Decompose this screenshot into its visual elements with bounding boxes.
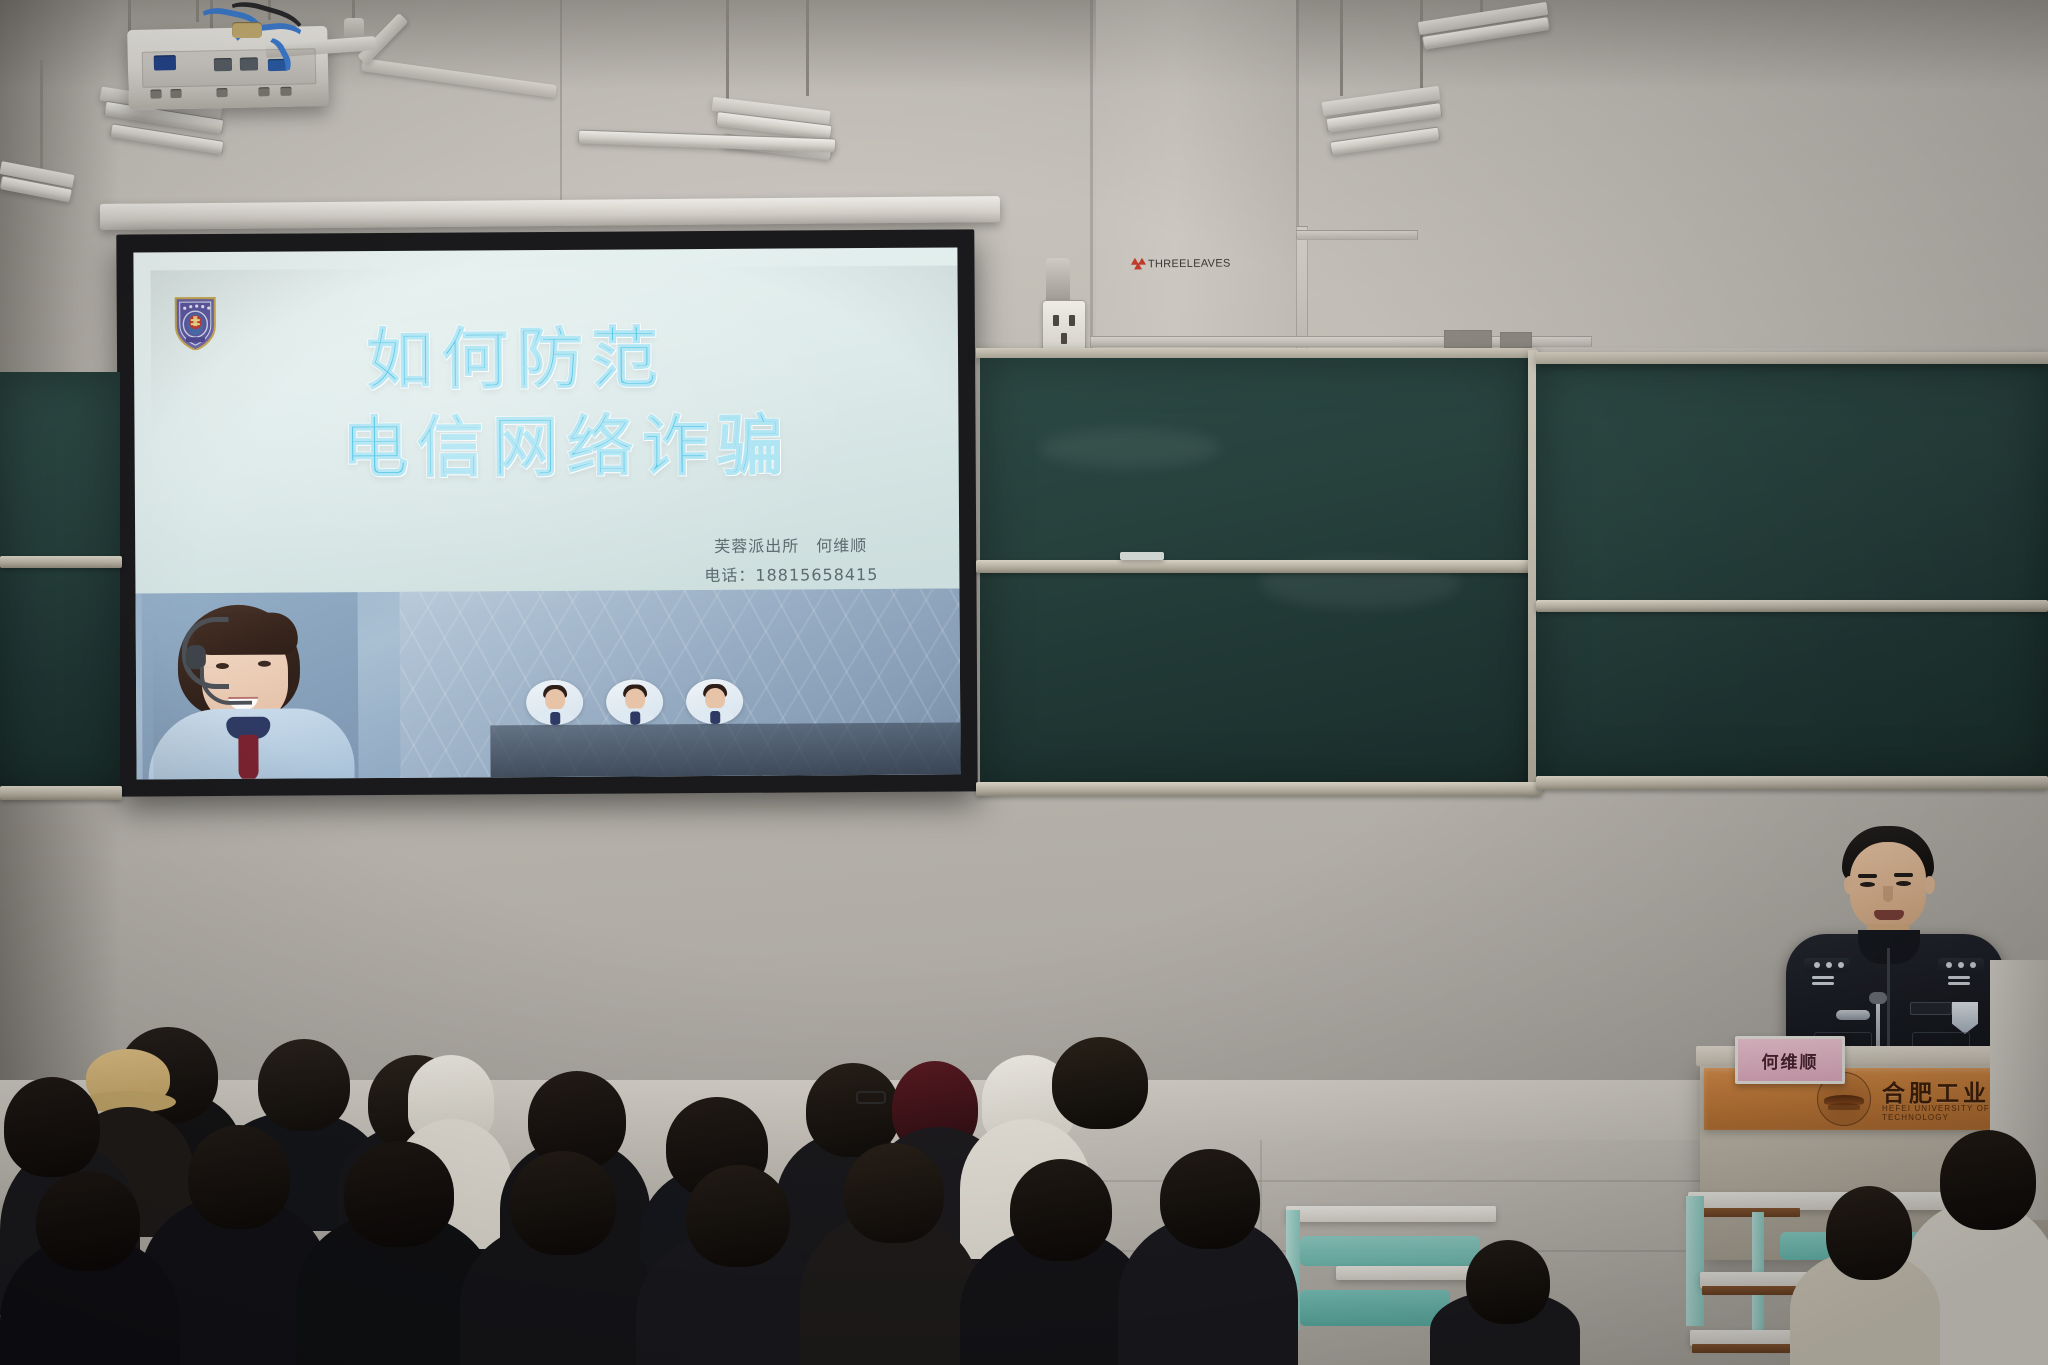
speaker-nameplate-label: 何维顺 bbox=[1762, 1048, 1819, 1073]
contact-office-and-name: 芙蓉派出所 何维顺 bbox=[714, 531, 889, 561]
desk-seat-left bbox=[1300, 1290, 1450, 1326]
blackboard-frame-top bbox=[976, 348, 1536, 358]
speaker-nameplate: 何维顺 bbox=[1735, 1036, 1845, 1084]
desk-back-left bbox=[1300, 1236, 1480, 1266]
blackboard-chalk-tray-far-right bbox=[1536, 776, 2048, 790]
projected-slide: 如何防范 电信网络诈骗 芙蓉派出所 何维顺 电话：18815658415 138… bbox=[133, 247, 960, 779]
slide-title-line1: 如何防范 bbox=[133, 317, 958, 400]
desk-top-left bbox=[1286, 1206, 1496, 1222]
operator-thumb-3 bbox=[686, 679, 743, 724]
audience-head bbox=[1010, 1159, 1112, 1261]
wall-seam bbox=[1090, 0, 1093, 350]
operator-thumb-2 bbox=[606, 679, 663, 724]
microphone-icon bbox=[1869, 992, 1887, 1004]
blackboard-rail-far-right bbox=[1536, 600, 2048, 612]
screen-brand-label: THREELEAVES bbox=[1148, 257, 1231, 270]
conduit-box bbox=[1500, 332, 1532, 348]
officer-name-tag bbox=[1910, 1002, 1952, 1015]
audience-head bbox=[844, 1143, 944, 1243]
lecture-hall-scene: THREELEAVES bbox=[0, 0, 2048, 1365]
conduit-box bbox=[1444, 330, 1492, 348]
audience-head bbox=[1160, 1149, 1260, 1249]
audience-head bbox=[686, 1165, 790, 1267]
slide-title: 如何防范 电信网络诈骗 bbox=[134, 317, 959, 488]
blackboard-chalk-tray-right bbox=[976, 782, 1542, 796]
blackboard-rail-left bbox=[0, 556, 122, 568]
wall-conduit-branch bbox=[1296, 230, 1418, 240]
audience-head bbox=[188, 1125, 290, 1229]
chalk-piece[interactable] bbox=[1120, 552, 1164, 560]
wall-pillar bbox=[1096, 0, 1296, 352]
blackboard-left bbox=[0, 372, 120, 792]
operator-thumb-1 bbox=[526, 680, 583, 725]
blackboard-rail-right bbox=[976, 560, 1540, 573]
audience-head bbox=[1940, 1130, 2036, 1230]
blackboard-far-right bbox=[1536, 362, 2048, 782]
audience-head bbox=[258, 1039, 350, 1131]
audience-head bbox=[4, 1077, 100, 1177]
power-plug bbox=[1046, 258, 1070, 304]
officer-chest-emblem bbox=[1836, 1010, 1870, 1020]
audience-head bbox=[1466, 1240, 1550, 1324]
slide-photo-strip bbox=[135, 588, 960, 779]
audience-head bbox=[1826, 1186, 1912, 1280]
screen-brand: THREELEAVES bbox=[1132, 257, 1231, 270]
projection-screen-frame: 如何防范 电信网络诈骗 芙蓉派出所 何维顺 电话：18815658415 138… bbox=[116, 229, 977, 796]
slide-title-line2: 电信网络诈骗 bbox=[174, 405, 958, 488]
audience-head bbox=[344, 1141, 454, 1247]
audience-glasses-icon bbox=[856, 1091, 886, 1104]
wall-seam bbox=[560, 0, 562, 200]
contact-phone-primary: 电话：18815658415 bbox=[704, 560, 889, 590]
photo-dark-band bbox=[490, 722, 960, 777]
audience-head bbox=[36, 1171, 140, 1271]
blackboard-chalk-tray-left bbox=[0, 786, 122, 800]
blackboard-frame-far-right bbox=[1536, 352, 2048, 364]
mitsubishi-triangle-icon bbox=[1132, 259, 1145, 270]
call-center-operator-photo bbox=[141, 592, 358, 779]
audience-head bbox=[510, 1151, 616, 1255]
audience-head bbox=[1052, 1037, 1148, 1129]
audience bbox=[0, 1015, 1300, 1365]
blackboard-right bbox=[980, 358, 1536, 788]
